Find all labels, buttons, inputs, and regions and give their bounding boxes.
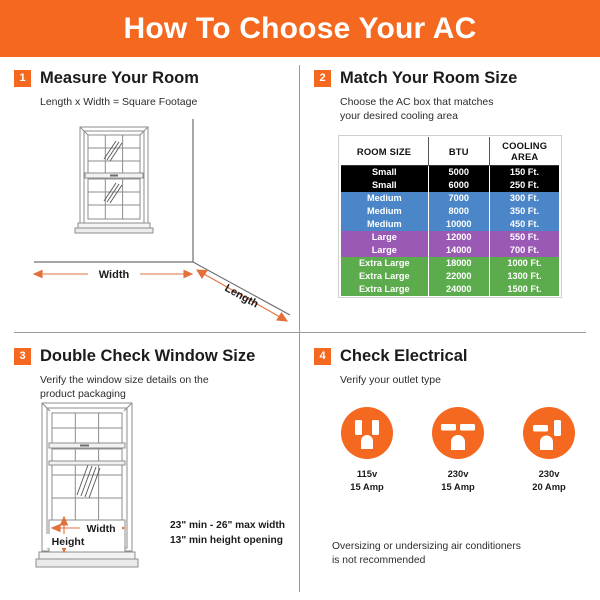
window-size-note: 23" min - 26" max width 13" min height o… (170, 519, 315, 548)
cell-room-size: Large (341, 231, 429, 244)
window-size-diagram: Width Height 23" min - 26" max width 13"… (22, 395, 302, 595)
outlet-3-voltage: 230v (512, 468, 586, 481)
outlet-3-amperage: 20 Amp (512, 481, 586, 494)
outlet-2-caption: 230v 15 Amp (421, 468, 495, 493)
sizing-note-line-1: Oversizing or undersizing air conditione… (332, 540, 582, 554)
sizing-note-line-2: is not recommended (332, 554, 582, 568)
cell-cooling-area: 350 Ft. (489, 205, 559, 218)
cell-cooling-area: 1300 Ft. (489, 270, 559, 283)
outlet-1-amperage: 15 Amp (330, 481, 404, 494)
length-label: Length (223, 282, 261, 310)
cell-room-size: Small (341, 179, 429, 192)
cell-room-size: Large (341, 244, 429, 257)
outlet-3-caption: 230v 20 Amp (512, 468, 586, 493)
room-measure-diagram: Width Length (28, 119, 300, 329)
step-3-panel: 3 Double Check Window Size Verify the wi… (14, 347, 286, 597)
cell-btu: 6000 (428, 179, 489, 192)
cell-btu: 5000 (428, 166, 489, 180)
step-2-heading: 2 Match Your Room Size (314, 69, 586, 88)
table-row: Small 6000 250 Ft. (341, 179, 560, 192)
horizontal-divider (14, 332, 586, 333)
step-4-number: 4 (314, 348, 331, 365)
width-label: Width (99, 269, 130, 281)
cell-room-size: Medium (341, 192, 429, 205)
infographic-page: How To Choose Your AC 1 Measure Your Roo… (0, 0, 600, 600)
table-row: Extra Large 22000 1300 Ft. (341, 270, 560, 283)
outlet-1-caption: 115v 15 Amp (330, 468, 404, 493)
outlet-option-1[interactable]: 115v 15 Amp (330, 405, 404, 493)
cell-cooling-area: 450 Ft. (489, 218, 559, 231)
outlet-option-3[interactable]: 230v 20 Amp (512, 405, 586, 493)
steps-grid: 1 Measure Your Room Length x Width = Squ… (0, 57, 600, 600)
window-width-label: Width (86, 523, 115, 535)
cell-cooling-area: 1500 Ft. (489, 283, 559, 296)
step-2-panel: 2 Match Your Room Size Choose the AC box… (314, 69, 586, 327)
step-1-title: Measure Your Room (40, 69, 199, 88)
cell-room-size: Extra Large (341, 270, 429, 283)
cell-cooling-area: 1000 Ft. (489, 257, 559, 270)
cell-btu: 7000 (428, 192, 489, 205)
room-corner-svg: Width Length (28, 119, 300, 329)
table-row: Medium 10000 450 Ft. (341, 218, 560, 231)
outlet-2-voltage: 230v (421, 468, 495, 481)
outlet-option-2[interactable]: 230v 15 Amp (421, 405, 495, 493)
table-row: Medium 7000 300 Ft. (341, 192, 560, 205)
window-note-line-2: 13" min height opening (170, 534, 315, 549)
step-3-heading: 3 Double Check Window Size (14, 347, 286, 366)
cell-cooling-area: 300 Ft. (489, 192, 559, 205)
step-1-panel: 1 Measure Your Room Length x Width = Squ… (14, 69, 286, 327)
step-4-panel: 4 Check Electrical Verify your outlet ty… (314, 347, 586, 597)
outlet-1-voltage: 115v (330, 468, 404, 481)
step-4-subtitle: Verify your outlet type (340, 373, 586, 387)
cell-room-size: Extra Large (341, 283, 429, 296)
btu-table: ROOM SIZE BTU COOLING AREA Small 5000 15… (340, 137, 560, 296)
btu-table-body: Small 5000 150 Ft. Small 6000 250 Ft. Me… (341, 166, 560, 297)
outlet-115v-15amp-icon (330, 405, 404, 461)
sizing-recommendation-note: Oversizing or undersizing air conditione… (332, 540, 582, 568)
table-row: Medium 8000 350 Ft. (341, 205, 560, 218)
table-row: Extra Large 18000 1000 Ft. (341, 257, 560, 270)
cell-room-size: Medium (341, 205, 429, 218)
table-row: Small 5000 150 Ft. (341, 166, 560, 180)
cell-btu: 14000 (428, 244, 489, 257)
step-1-number: 1 (14, 70, 31, 87)
cell-cooling-area: 550 Ft. (489, 231, 559, 244)
cell-btu: 12000 (428, 231, 489, 244)
cell-cooling-area: 250 Ft. (489, 179, 559, 192)
btu-header-room-size: ROOM SIZE (341, 137, 429, 166)
table-row: Large 14000 700 Ft. (341, 244, 560, 257)
cell-room-size: Medium (341, 218, 429, 231)
btu-header-btu: BTU (428, 137, 489, 166)
cell-btu: 22000 (428, 270, 489, 283)
step-1-heading: 1 Measure Your Room (14, 69, 286, 88)
step-2-title: Match Your Room Size (340, 69, 517, 88)
btu-table-header-row: ROOM SIZE BTU COOLING AREA (341, 137, 560, 166)
header-banner: How To Choose Your AC (0, 0, 600, 57)
outlet-230v-20amp-icon (512, 405, 586, 461)
cell-btu: 8000 (428, 205, 489, 218)
step-4-title: Check Electrical (340, 347, 468, 366)
window-note-line-1: 23" min - 26" max width (170, 519, 315, 534)
window-height-label: Height (52, 536, 85, 548)
step-2-number: 2 (314, 70, 331, 87)
cell-btu: 24000 (428, 283, 489, 296)
step-1-subtitle: Length x Width = Square Footage (40, 95, 286, 109)
outlet-230v-15amp-icon (421, 405, 495, 461)
cell-room-size: Extra Large (341, 257, 429, 270)
step-4-heading: 4 Check Electrical (314, 347, 586, 366)
btu-header-cooling-area: COOLING AREA (489, 137, 559, 166)
cell-cooling-area: 700 Ft. (489, 244, 559, 257)
cell-btu: 10000 (428, 218, 489, 231)
step-3-number: 3 (14, 348, 31, 365)
outlet-2-amperage: 15 Amp (421, 481, 495, 494)
table-row: Large 12000 550 Ft. (341, 231, 560, 244)
outlet-type-list: 115v 15 Amp 230v 15 Amp (330, 405, 586, 493)
cell-cooling-area: 150 Ft. (489, 166, 559, 180)
window-measure-svg: Width Height (22, 395, 302, 595)
cell-btu: 18000 (428, 257, 489, 270)
btu-table-wrapper: ROOM SIZE BTU COOLING AREA Small 5000 15… (338, 135, 562, 298)
cell-room-size: Small (341, 166, 429, 180)
step-2-subtitle: Choose the AC box that matches your desi… (340, 95, 586, 123)
page-title: How To Choose Your AC (123, 12, 476, 46)
step-3-title: Double Check Window Size (40, 347, 255, 366)
table-row: Extra Large 24000 1500 Ft. (341, 283, 560, 296)
